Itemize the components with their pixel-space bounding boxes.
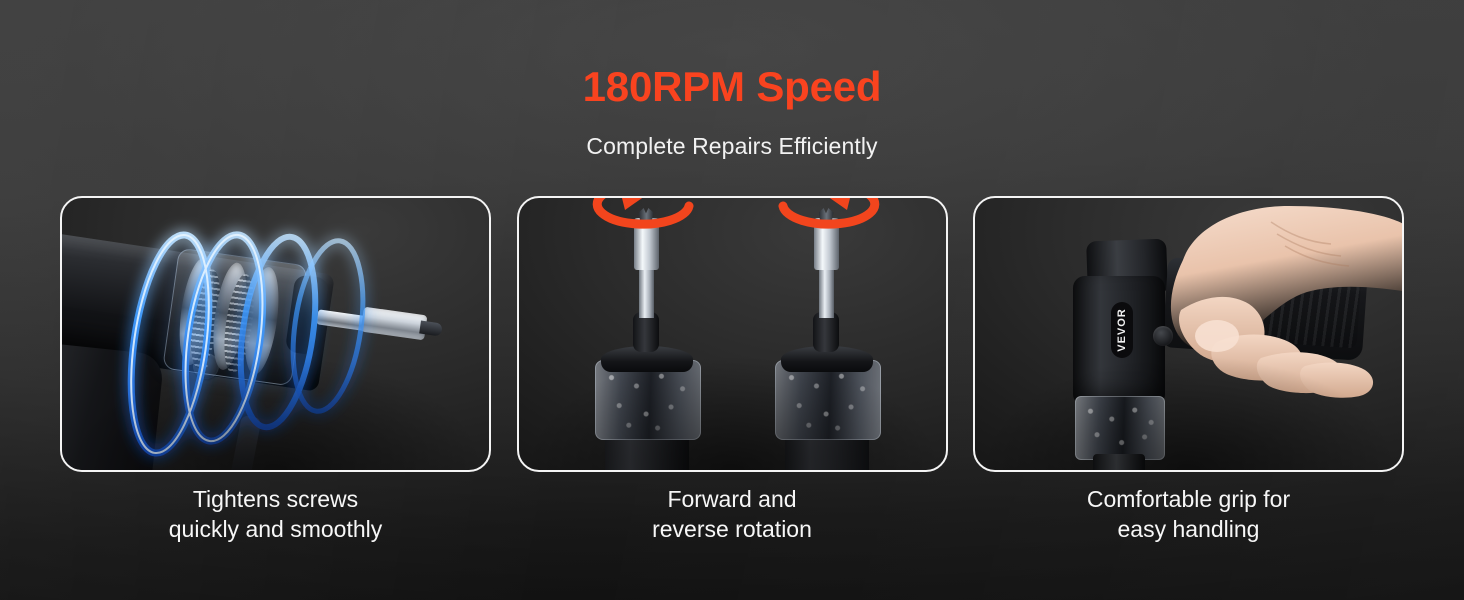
bit-shank-shape [819,262,834,318]
rotation-arrow-clockwise-icon [761,198,891,240]
feature-card-speed-glow [60,196,491,472]
caption-line: quickly and smoothly [60,514,491,544]
caption-line: easy handling [973,514,1404,544]
screwdriver-unit-clockwise [751,206,901,470]
feature-card-comfort-grip: VEVOR [973,196,1404,472]
bit-shank-shape [639,262,654,318]
caption-line: reverse rotation [517,514,948,544]
headline: 180RPM Speed [0,64,1464,110]
card-image-comfort-grip: VEVOR [975,198,1402,470]
caption-forward-reverse: Forward and reverse rotation [517,484,948,544]
bit-magazine-shape [595,360,701,440]
bit-magazine-shape [775,360,881,440]
chuck-shape [1093,454,1145,470]
subheadline: Complete Repairs Efficiently [0,133,1464,160]
tool-neck-shape [813,312,839,352]
caption-comfort-grip: Comfortable grip for easy handling [973,484,1404,544]
caption-line: Tightens screws [60,484,491,514]
card-image-forward-reverse [519,198,946,470]
tool-neck-shape [633,312,659,352]
card-image-speed-glow [62,198,489,470]
caption-speed-glow: Tightens screws quickly and smoothly [60,484,491,544]
blue-energy-helix-icon [92,206,422,470]
caption-row: Tightens screws quickly and smoothly For… [60,484,1404,544]
feature-card-forward-reverse [517,196,948,472]
caption-line: Comfortable grip for [973,484,1404,514]
rotation-arrow-counterclockwise-icon [581,198,711,240]
screwdriver-unit-counterclockwise [571,206,721,470]
caption-line: Forward and [517,484,948,514]
feature-card-row: VEVOR [60,196,1404,472]
product-feature-banner: 180RPM Speed Complete Repairs Efficientl… [0,0,1464,600]
hand-illustration [1121,200,1402,410]
